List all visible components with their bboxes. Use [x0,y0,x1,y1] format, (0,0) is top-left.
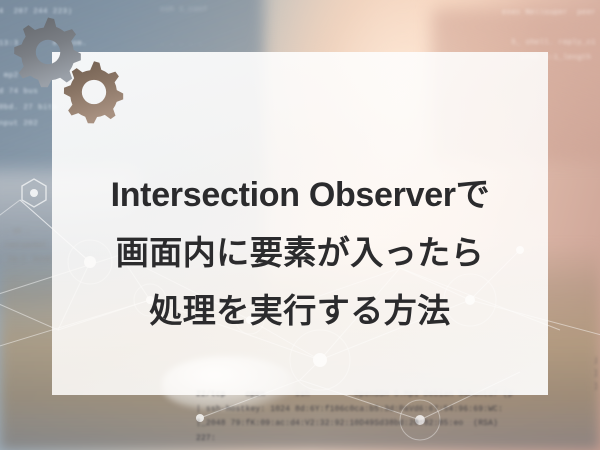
title-line-2: 画面内に要素が入ったら [116,236,485,269]
thumbnail-canvas: 74 207 244 223) 213:3 e. com. 1 mp2 3d 7… [0,0,600,450]
title-line-1: Intersection Observerで [111,178,490,212]
title-block: Intersection Observerで 画面内に要素が入ったら 処理を実行… [52,52,548,395]
title-line-3: 処理を実行する方法 [149,294,451,327]
